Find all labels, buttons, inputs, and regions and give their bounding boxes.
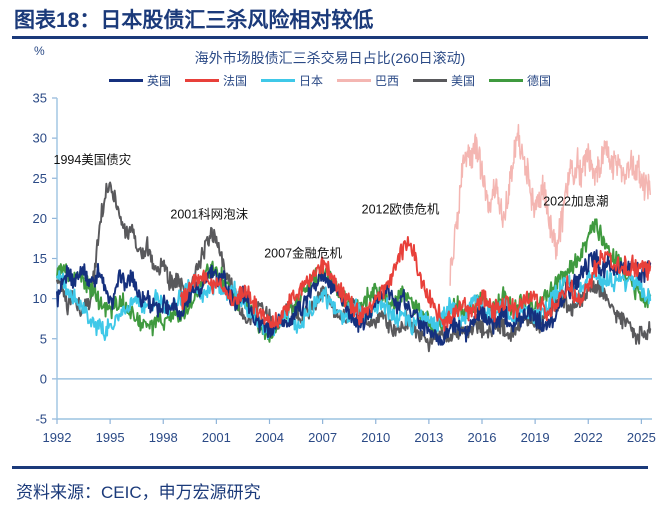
y-axis-tick-label: 30 (33, 131, 47, 146)
y-axis-tick-label: 5 (40, 331, 47, 346)
x-axis-tick-label: 1998 (149, 430, 178, 445)
x-axis-tick-label: 2010 (361, 430, 390, 445)
source-note: 资料来源：CEIC，申万宏源研究 (16, 478, 261, 503)
y-axis-tick-label: -5 (35, 412, 47, 427)
chart-page: 图表18：日本股债汇三杀风险相对较低 % 海外市场股债汇三杀交易日占比(260日… (0, 0, 660, 517)
y-axis-tick-label: 35 (33, 91, 47, 106)
x-axis-tick-label: 2022 (574, 430, 603, 445)
series-line-英国 (57, 250, 650, 345)
x-axis-tick-label: 2016 (468, 430, 497, 445)
page-title: 图表18：日本股债汇三杀风险相对较低 (14, 4, 373, 34)
x-axis-tick-label: 2019 (521, 430, 550, 445)
chart-container: % 海外市场股债汇三杀交易日占比(260日滚动) 英国法国日本巴西美国德国 -5… (0, 42, 660, 466)
y-axis-tick-label: 20 (33, 211, 47, 226)
chart-annotation: 2001科网泡沫 (170, 207, 248, 221)
chart-annotation: 2007金融危机 (264, 246, 342, 261)
page-header: 图表18：日本股债汇三杀风险相对较低 (0, 0, 660, 40)
x-axis-tick-label: 1995 (96, 430, 125, 445)
chart-plot-area: -505101520253035199219951998200120042007… (0, 42, 660, 466)
y-axis-tick-label: 0 (40, 371, 47, 386)
x-axis-tick-label: 2007 (308, 430, 337, 445)
x-axis-tick-label: 2013 (414, 430, 443, 445)
x-axis-tick-label: 2004 (255, 430, 284, 445)
y-axis-tick-label: 10 (33, 291, 47, 306)
footer-divider (12, 466, 648, 469)
y-axis-tick-label: 15 (33, 251, 47, 266)
x-axis-tick-label: 1992 (43, 430, 72, 445)
x-axis-tick-label: 2025 (627, 430, 656, 445)
header-divider (12, 36, 648, 39)
chart-annotation: 1994美国债灾 (54, 152, 132, 167)
x-axis-tick-label: 2001 (202, 430, 231, 445)
chart-annotation: 2022加息潮 (543, 194, 608, 209)
y-axis-tick-label: 25 (33, 171, 47, 186)
chart-annotation: 2012欧债危机 (362, 203, 440, 217)
